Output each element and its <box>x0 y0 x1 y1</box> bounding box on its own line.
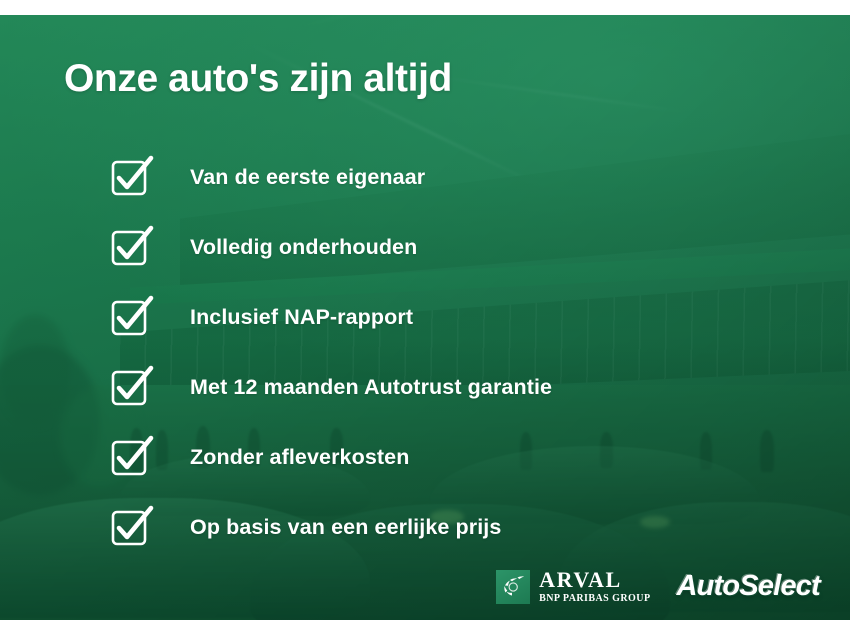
checkbox-checked-icon <box>112 299 148 335</box>
list-item: Op basis van een eerlijke prijs <box>112 492 812 562</box>
list-item-label: Van de eerste eigenaar <box>190 165 425 190</box>
banner-stage: Onze auto's zijn altijd Van de eerste ei… <box>0 15 850 620</box>
banner-content: Onze auto's zijn altijd Van de eerste ei… <box>0 15 850 620</box>
checkbox-checked-icon <box>112 439 148 475</box>
footer-logos: ARVAL BNP PARIBAS GROUP AutoSelect <box>496 569 820 604</box>
bnp-paribas-stars-icon <box>496 570 530 604</box>
list-item: Inclusief NAP-rapport <box>112 282 812 352</box>
promo-banner: Onze auto's zijn altijd Van de eerste ei… <box>0 0 850 638</box>
list-item: Van de eerste eigenaar <box>112 142 812 212</box>
list-item-label: Inclusief NAP-rapport <box>190 305 413 330</box>
list-item-label: Zonder afleverkosten <box>190 445 409 470</box>
arval-subtitle: BNP PARIBAS GROUP <box>539 594 650 604</box>
arval-name: ARVAL <box>539 569 650 591</box>
list-item-label: Op basis van een eerlijke prijs <box>190 515 501 540</box>
checkbox-checked-icon <box>112 369 148 405</box>
list-item-label: Volledig onderhouden <box>190 235 417 260</box>
list-item: Met 12 maanden Autotrust garantie <box>112 352 812 422</box>
page-title: Onze auto's zijn altijd <box>64 59 452 100</box>
checkbox-checked-icon <box>112 159 148 195</box>
autoselect-logo: AutoSelect <box>677 570 820 603</box>
arval-logo: ARVAL BNP PARIBAS GROUP <box>496 569 650 604</box>
list-item: Zonder afleverkosten <box>112 422 812 492</box>
arval-wordmark: ARVAL BNP PARIBAS GROUP <box>539 569 650 604</box>
checkbox-checked-icon <box>112 509 148 545</box>
benefits-checklist: Van de eerste eigenaar Volledig onderhou… <box>112 142 812 562</box>
list-item: Volledig onderhouden <box>112 212 812 282</box>
checkbox-checked-icon <box>112 229 148 265</box>
list-item-label: Met 12 maanden Autotrust garantie <box>190 375 552 400</box>
